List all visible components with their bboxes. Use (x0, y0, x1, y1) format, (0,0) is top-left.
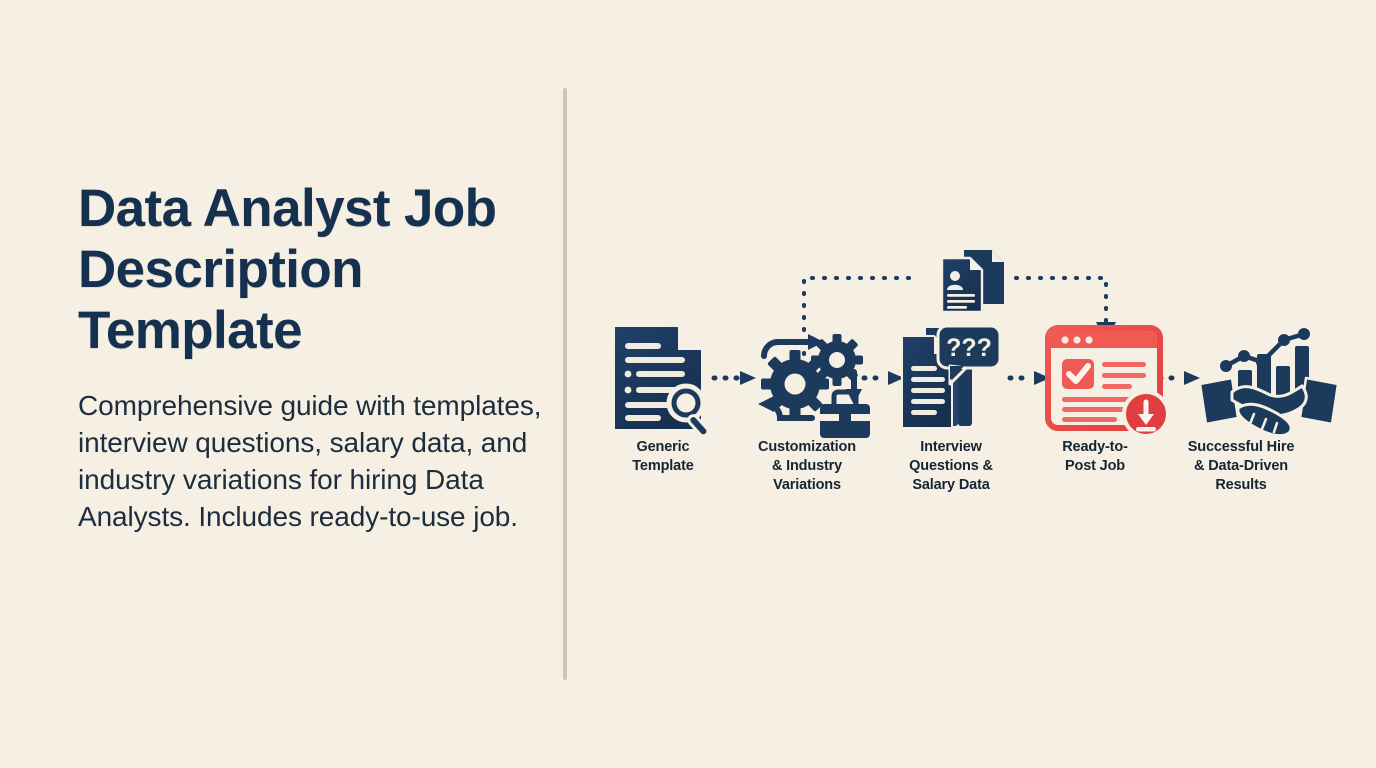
flow-connector-1-2 (864, 371, 904, 385)
node-label-generic-template: Generic Template (588, 438, 738, 495)
browser-checkmark-download-icon (1048, 328, 1168, 436)
process-flow-diagram: ??? (586, 230, 1366, 510)
document-magnifier-icon (614, 326, 710, 438)
page-subtitle: Comprehensive guide with templates, inte… (78, 387, 548, 535)
download-badge-icon (1124, 392, 1168, 436)
flow-connector-3-4 (1160, 371, 1200, 385)
node-label-line: Salary Data (876, 476, 1026, 495)
node-label-line: & Data-Driven (1162, 457, 1320, 476)
node-icon-generic-template[interactable] (614, 326, 710, 438)
node-label-line: Ready-to- (1022, 438, 1168, 457)
node-label-line: Template (588, 457, 738, 476)
node-icon-interview-questions[interactable]: ??? (902, 326, 1000, 428)
vertical-divider (563, 88, 567, 680)
node-label-line: Successful Hire (1162, 438, 1320, 457)
node-label-interview-questions: Interview Questions & Salary Data (876, 438, 1026, 495)
slide-root: Data Analyst Job Description Template Co… (0, 0, 1376, 768)
page-title: Data Analyst Job Description Template (78, 178, 548, 361)
flow-connector-0-1 (714, 371, 756, 385)
node-label-line: Results (1162, 476, 1320, 495)
node-label-row: Generic Template Customization & Industr… (586, 438, 1366, 495)
node-icon-ready-to-post[interactable] (1048, 328, 1168, 436)
node-label-line: Variations (732, 476, 882, 495)
node-label-line: Interview (876, 438, 1026, 457)
documents-question-bubble-icon: ??? (902, 326, 1000, 428)
question-marks-text: ??? (946, 334, 992, 362)
node-label-customization: Customization & Industry Variations (732, 438, 882, 495)
left-text-panel: Data Analyst Job Description Template Co… (78, 178, 548, 535)
node-label-successful-hire: Successful Hire & Data-Driven Results (1162, 438, 1320, 495)
resume-document-icon (942, 250, 1004, 312)
gears-toolbox-icon (758, 334, 870, 438)
node-label-line: & Industry (732, 457, 882, 476)
handshake-barchart-icon (1200, 328, 1338, 436)
node-label-line: Post Job (1022, 457, 1168, 476)
node-label-line: Questions & (876, 457, 1026, 476)
node-icon-successful-hire[interactable] (1200, 328, 1338, 436)
node-icon-customization[interactable] (758, 334, 870, 438)
flow-connector-2-3 (1010, 371, 1050, 385)
node-label-line: Generic (588, 438, 738, 457)
node-label-ready-to-post: Ready-to- Post Job (1022, 438, 1168, 495)
node-label-line: Customization (732, 438, 882, 457)
